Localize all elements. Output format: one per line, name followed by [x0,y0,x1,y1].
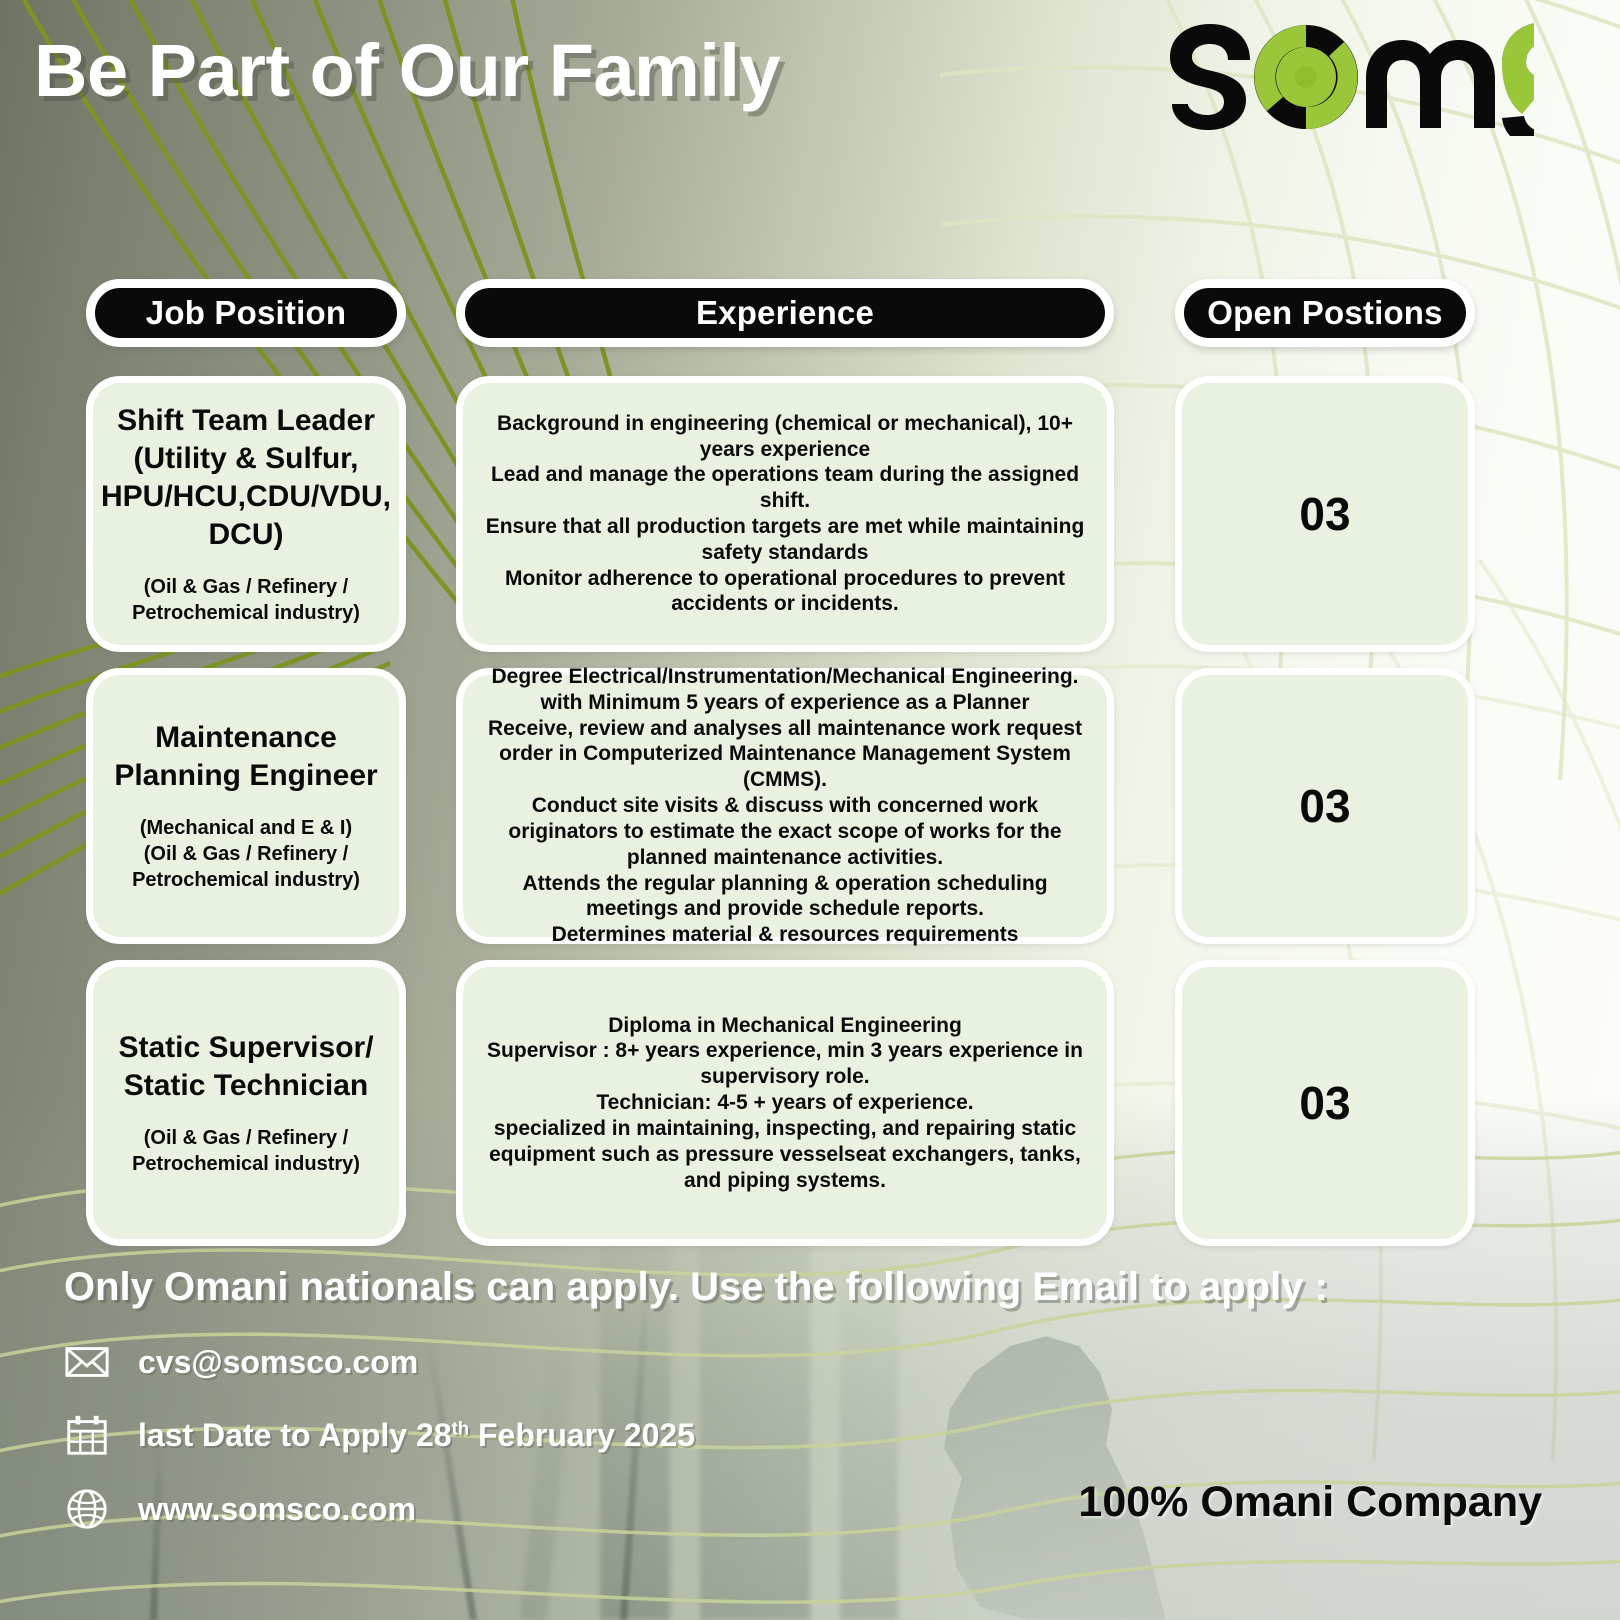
page-title: Be Part of Our Family [34,28,780,113]
logo-letter-o-gear [1234,16,1379,136]
open-positions-count: 03 [1299,487,1350,541]
open-positions-card: 03 [1175,668,1475,944]
worker-silhouette [890,1290,1190,1620]
column-header-job-position: Job Position [86,279,406,347]
job-position-card: Shift Team Leader (Utility & Sulfur, HPU… [86,376,406,652]
job-position-card: Static Supervisor/ Static Technician (Oi… [86,960,406,1246]
calendar-icon [64,1412,110,1458]
soms-logo [1154,16,1534,136]
logo-letter-s-1 [1170,24,1250,130]
application-note: Only Omani nationals can apply. Use the … [64,1265,1328,1310]
gear-icon [1278,49,1334,105]
column-header-open-positions: Open Postions [1175,279,1475,347]
experience-text: Background in engineering (chemical or m… [463,411,1107,618]
open-positions-card: 03 [1175,376,1475,652]
job-position-card: Maintenance Planning Engineer (Mechanica… [86,668,406,944]
omani-company-badge: 100% Omani Company [1078,1478,1542,1527]
experience-card: Background in engineering (chemical or m… [456,376,1114,652]
deadline-prefix: last Date to Apply 28 [138,1417,452,1453]
experience-card: Degree Electrical/Instrumentation/Mechan… [456,668,1114,944]
job-title: Shift Team Leader (Utility & Sulfur, HPU… [93,402,399,553]
column-header-experience: Experience [456,279,1114,347]
contact-deadline-row: last Date to Apply 28th February 2025 [64,1412,695,1458]
rig-pole-1 [425,1333,477,1620]
open-positions-card: 03 [1175,960,1475,1246]
deadline-ordinal: th [452,1417,470,1438]
logo-letter-s-2 [1502,22,1534,136]
job-industry-note: (Mechanical and E & I) (Oil & Gas / Refi… [93,815,399,893]
deadline-text: last Date to Apply 28th February 2025 [138,1417,695,1454]
experience-text: Degree Electrical/Instrumentation/Mechan… [463,664,1107,948]
job-industry-note: (Oil & Gas / Refinery / Petrochemical in… [93,1125,399,1177]
job-title: Maintenance Planning Engineer [93,719,399,795]
logo-letter-m [1366,40,1495,128]
email-address[interactable]: cvs@somsco.com [138,1344,418,1381]
open-positions-count: 03 [1299,1076,1350,1130]
rig-structure-a [600,1200,670,1620]
globe-icon [64,1486,110,1532]
job-industry-note: (Oil & Gas / Refinery / Petrochemical in… [93,574,399,626]
rig-structure-d [520,1320,577,1620]
deadline-suffix: February 2025 [469,1417,695,1453]
contact-website-row[interactable]: www.somsco.com [64,1486,416,1532]
contact-email-row[interactable]: cvs@somsco.com [64,1339,418,1385]
open-positions-count: 03 [1299,779,1350,833]
website-url[interactable]: www.somsco.com [138,1491,416,1528]
job-title: Static Supervisor/ Static Technician [93,1029,399,1105]
experience-card: Diploma in Mechanical Engineering Superv… [456,960,1114,1246]
envelope-icon [64,1339,110,1385]
poster-canvas: Be Part of Our Family [0,0,1620,1620]
experience-text: Diploma in Mechanical Engineering Superv… [463,1013,1107,1194]
